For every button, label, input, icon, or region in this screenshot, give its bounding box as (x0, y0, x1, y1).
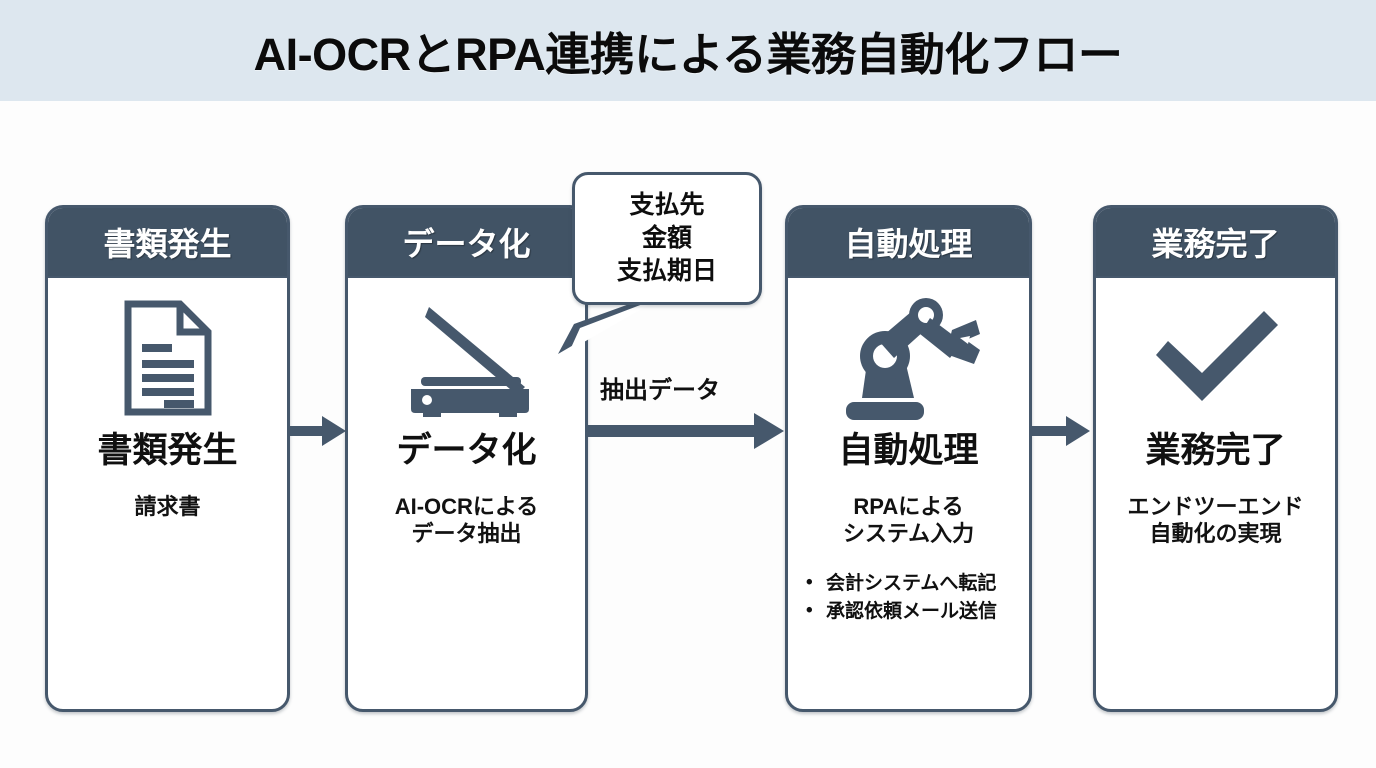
flow-step-card-2[interactable]: データ化 データ化 AI-OCRによる データ抽出 (345, 205, 588, 712)
flow-step-card-3[interactable]: 自動処理 (785, 205, 1032, 712)
arrow-step1-to-step2 (288, 414, 348, 448)
arrow-step2-to-step3 (586, 412, 786, 450)
flow-step-card-4[interactable]: 業務完了 業務完了 エンドツーエンド 自動化の実現 (1093, 205, 1338, 712)
checkmark-icon (1096, 288, 1335, 428)
callout-line-3: 支払期日 (617, 255, 717, 288)
flow-step-4-header-label: 業務完了 (1151, 219, 1279, 265)
flow-step-2-header-label: データ化 (402, 219, 530, 265)
flow-step-4-body: 業務完了 エンドツーエンド 自動化の実現 (1096, 278, 1335, 548)
flow-step-1-subtitle: 請求書 (134, 493, 200, 521)
title-banner: AI-OCRとRPA連携による業務自動化フロー (0, 0, 1376, 101)
flow-step-1-body: 書類発生 請求書 (48, 278, 287, 520)
flow-step-3-subtitle: RPAによる システム入力 (843, 493, 974, 548)
document-icon (48, 288, 287, 428)
robot-arm-icon (788, 288, 1029, 428)
arrow-step3-to-step4 (1030, 414, 1092, 448)
flow-step-1-title: 書類発生 (97, 432, 237, 471)
flow-step-3-title: 自動処理 (838, 432, 978, 471)
flow-step-4-header: 業務完了 (1096, 208, 1335, 278)
slide-canvas: AI-OCRとRPA連携による業務自動化フロー 書類発生 書類発生 請求書 (0, 0, 1376, 768)
flow-step-card-1[interactable]: 書類発生 書類発生 請求書 (45, 205, 290, 712)
list-item: 会計システムへ転記 (806, 570, 1023, 599)
flow-step-2-subtitle: AI-OCRによる データ抽出 (395, 493, 539, 548)
flow-step-3-header-label: 自動処理 (844, 219, 972, 265)
callout-line-2: 金額 (642, 222, 692, 255)
flow-step-1-header: 書類発生 (48, 208, 287, 278)
flow-step-4-subtitle: エンドツーエンド 自動化の実現 (1127, 493, 1303, 548)
flow-step-1-header-label: 書類発生 (103, 219, 231, 265)
callout-line-1: 支払先 (629, 189, 704, 222)
flow-step-4-title: 業務完了 (1145, 432, 1285, 471)
extracted-fields-callout[interactable]: 支払先 金額 支払期日 (572, 172, 762, 305)
page-title: AI-OCRとRPA連携による業務自動化フロー (254, 18, 1123, 83)
flow-step-3-bullet-list: 会計システムへ転記 承認依頼メール送信 (788, 570, 1029, 627)
arrow-step2-to-step3-label: 抽出データ (600, 370, 720, 405)
flow-step-3-body: 自動処理 RPAによる システム入力 会計システムへ転記 承認依頼メール送信 (788, 278, 1029, 627)
flow-step-2-title: データ化 (396, 432, 536, 471)
list-item: 承認依頼メール送信 (806, 598, 1023, 627)
flow-step-2-header: データ化 (348, 208, 585, 278)
flow-step-3-header: 自動処理 (788, 208, 1029, 278)
